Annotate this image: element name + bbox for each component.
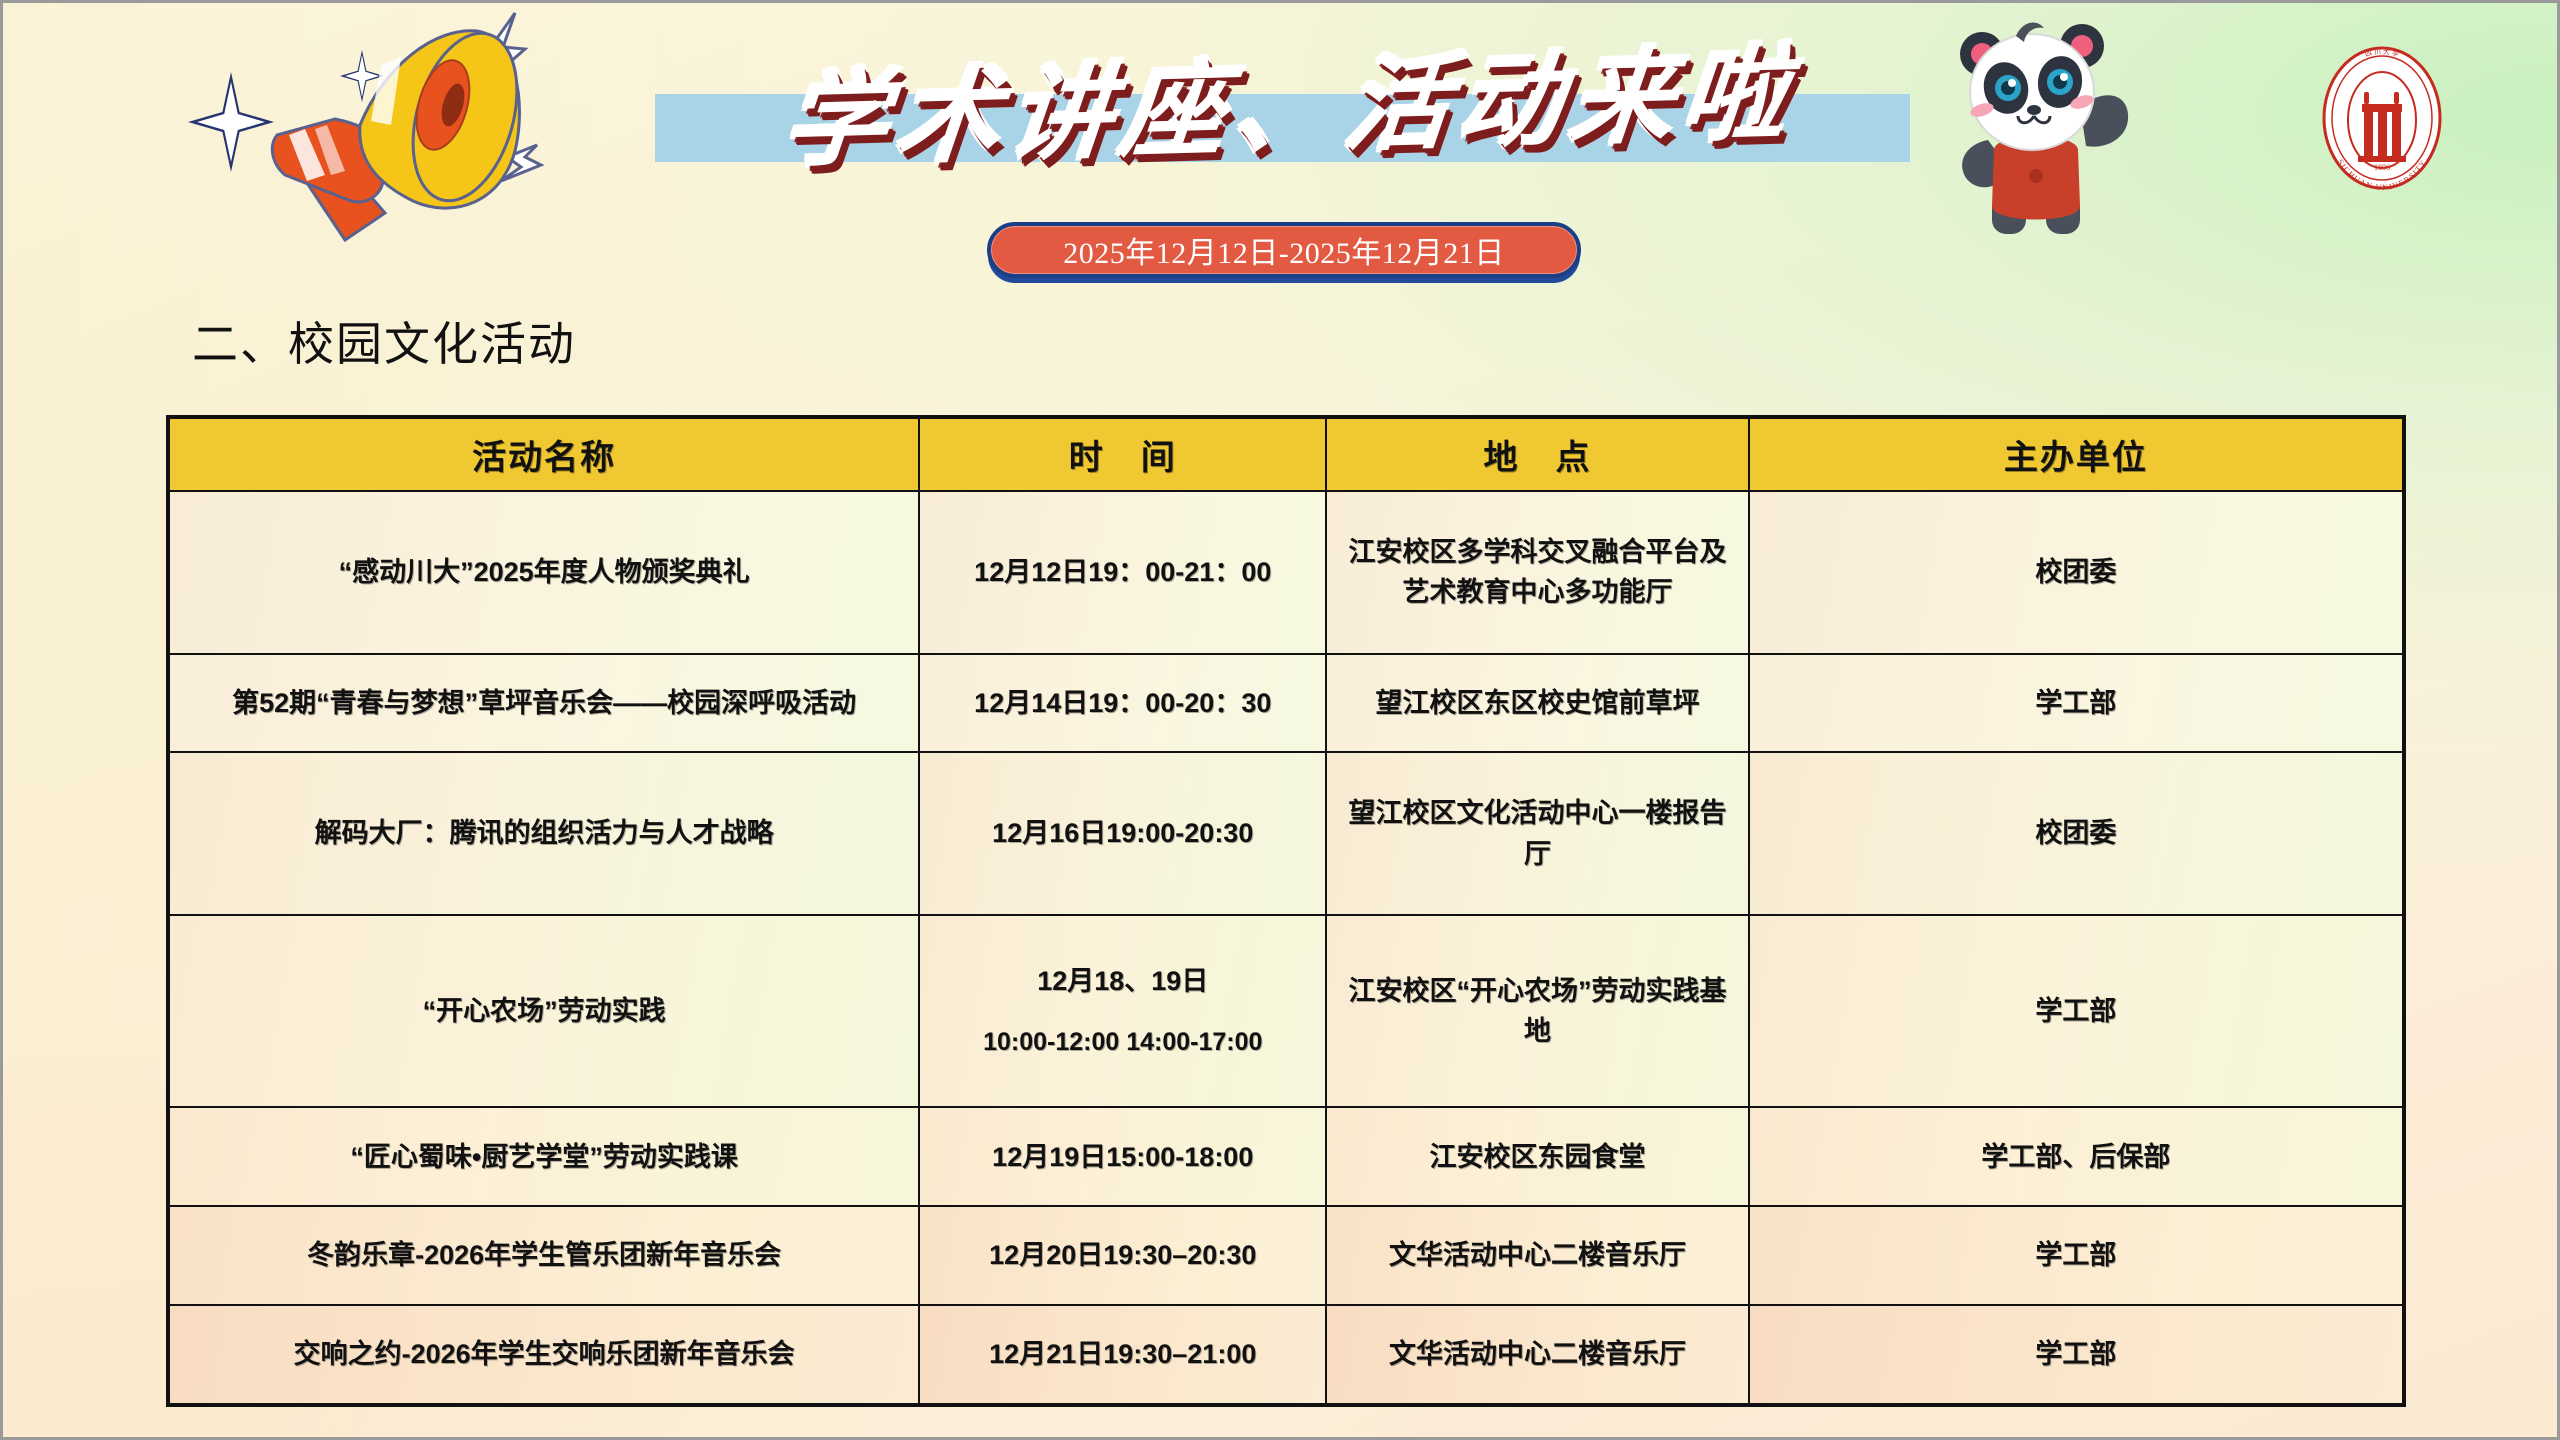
table-header-row: 活动名称 时 间 地 点 主办单位 bbox=[168, 417, 2404, 491]
cell-activity-place: 江安校区东园食堂 bbox=[1326, 1107, 1749, 1206]
table-row: 第52期“青春与梦想”草坪音乐会——校园深呼吸活动 12月14日19：00-20… bbox=[168, 654, 2404, 753]
schedule-table-body: “感动川大”2025年度人物颁奖典礼 12月12日19：00-21：00 江安校… bbox=[168, 491, 2404, 1405]
cell-activity-org: 学工部 bbox=[1749, 654, 2404, 753]
table-row: “感动川大”2025年度人物颁奖典礼 12月12日19：00-21：00 江安校… bbox=[168, 491, 2404, 654]
column-header-place: 地 点 bbox=[1326, 417, 1749, 491]
banner-title: 学术讲座、活动来啦 bbox=[777, 7, 1802, 186]
cell-activity-time: 12月20日19:30–20:30 bbox=[919, 1206, 1326, 1305]
date-range-badge: 2025年12月12日-2025年12月21日 bbox=[987, 222, 1581, 278]
cell-time-line2: 10:00-12:00 14:00-17:00 bbox=[938, 1024, 1307, 1062]
cell-activity-name: 交响之约-2026年学生交响乐团新年音乐会 bbox=[168, 1305, 919, 1405]
table-row: 解码大厂：腾讯的组织活力与人才战略 12月16日19:00-20:30 望江校区… bbox=[168, 752, 2404, 915]
banner-title-wrap: 学术讲座、活动来啦 bbox=[640, 22, 1940, 172]
column-header-name: 活动名称 bbox=[168, 417, 919, 491]
cell-activity-time: 12月12日19：00-21：00 bbox=[919, 491, 1326, 654]
cell-activity-org: 学工部 bbox=[1749, 915, 2404, 1108]
cell-activity-name: “感动川大”2025年度人物颁奖典礼 bbox=[168, 491, 919, 654]
table-row: 冬韵乐章-2026年学生管乐团新年音乐会 12月20日19:30–20:30 文… bbox=[168, 1206, 2404, 1305]
cell-time-line1: 12月18、19日 bbox=[938, 961, 1307, 1002]
cell-activity-org: 学工部 bbox=[1749, 1305, 2404, 1405]
cell-activity-place: 文华活动中心二楼音乐厅 bbox=[1326, 1305, 1749, 1405]
schedule-table: 活动名称 时 间 地 点 主办单位 “感动川大”2025年度人物颁奖典礼 12月… bbox=[166, 415, 2406, 1407]
schedule-table-wrap: 活动名称 时 间 地 点 主办单位 “感动川大”2025年度人物颁奖典礼 12月… bbox=[166, 415, 2406, 1407]
table-row: “匠心蜀味•厨艺学堂”劳动实践课 12月19日15:00-18:00 江安校区东… bbox=[168, 1107, 2404, 1206]
table-row: 交响之约-2026年学生交响乐团新年音乐会 12月21日19:30–21:00 … bbox=[168, 1305, 2404, 1405]
cell-activity-name: 第52期“青春与梦想”草坪音乐会——校园深呼吸活动 bbox=[168, 654, 919, 753]
cell-activity-name: “匠心蜀味•厨艺学堂”劳动实践课 bbox=[168, 1107, 919, 1206]
cell-activity-name: “开心农场”劳动实践 bbox=[168, 915, 919, 1108]
megaphone-icon bbox=[185, 5, 585, 275]
cell-activity-place: 文华活动中心二楼音乐厅 bbox=[1326, 1206, 1749, 1305]
section-title: 二、校园文化活动 bbox=[192, 308, 576, 374]
cell-activity-org: 校团委 bbox=[1749, 491, 2404, 654]
column-header-time: 时 间 bbox=[919, 417, 1326, 491]
cell-activity-place: 望江校区文化活动中心一楼报告厅 bbox=[1326, 752, 1749, 915]
table-row: “开心农场”劳动实践 12月18、19日 10:00-12:00 14:00-1… bbox=[168, 915, 2404, 1108]
cell-activity-org: 学工部、后保部 bbox=[1749, 1107, 2404, 1206]
cell-activity-place: 江安校区多学科交叉融合平台及艺术教育中心多功能厅 bbox=[1326, 491, 1749, 654]
column-header-org: 主办单位 bbox=[1749, 417, 2404, 491]
cell-activity-time: 12月21日19:30–21:00 bbox=[919, 1305, 1326, 1405]
cell-activity-org: 学工部 bbox=[1749, 1206, 2404, 1305]
cell-activity-org: 校团委 bbox=[1749, 752, 2404, 915]
sichuan-university-seal-icon: 四 川 大 学 SICHUAN UNIVERSITY 1896 bbox=[2302, 28, 2462, 208]
cell-activity-time: 12月19日15:00-18:00 bbox=[919, 1107, 1326, 1206]
panda-mascot-icon bbox=[1930, 10, 2160, 245]
seal-year: 1896 bbox=[2374, 163, 2390, 172]
cell-activity-place: 望江校区东区校史馆前草坪 bbox=[1326, 654, 1749, 753]
date-range-text: 2025年12月12日-2025年12月21日 bbox=[1063, 228, 1505, 272]
cell-activity-time: 12月16日19:00-20:30 bbox=[919, 752, 1326, 915]
cell-activity-time: 12月14日19：00-20：30 bbox=[919, 654, 1326, 753]
cell-activity-name: 解码大厂：腾讯的组织活力与人才战略 bbox=[168, 752, 919, 915]
cell-activity-time: 12月18、19日 10:00-12:00 14:00-17:00 bbox=[919, 915, 1326, 1108]
cell-activity-name: 冬韵乐章-2026年学生管乐团新年音乐会 bbox=[168, 1206, 919, 1305]
cell-activity-place: 江安校区“开心农场”劳动实践基地 bbox=[1326, 915, 1749, 1108]
